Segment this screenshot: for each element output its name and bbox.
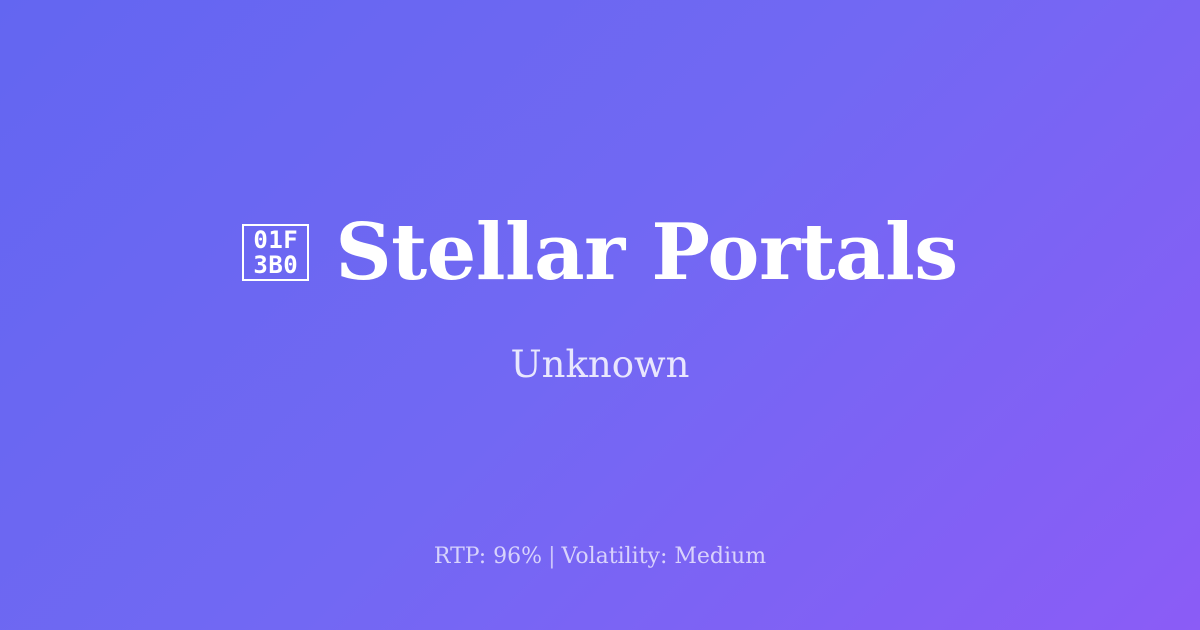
game-provider-subtitle: Unknown: [510, 342, 689, 388]
slot-machine-icon-codepoint-bottom: 3B0: [253, 253, 298, 278]
rtp-value-text: RTP: 96%: [434, 544, 542, 569]
volatility-value-text: Volatility: Medium: [562, 544, 767, 569]
slot-machine-icon: 01F 3B0: [242, 224, 309, 281]
title-row: 01F 3B0 Stellar Portals: [242, 209, 957, 297]
slot-machine-icon-codepoint-top: 01F: [253, 228, 298, 253]
og-share-card: 01F 3B0 Stellar Portals Unknown RTP: 96%…: [0, 0, 1200, 630]
meta-separator: |: [542, 544, 561, 569]
game-meta-footer: RTP: 96%|Volatility: Medium: [0, 542, 1200, 572]
hero-block: 01F 3B0 Stellar Portals Unknown: [0, 0, 1200, 630]
page-title: Stellar Portals: [335, 209, 957, 297]
